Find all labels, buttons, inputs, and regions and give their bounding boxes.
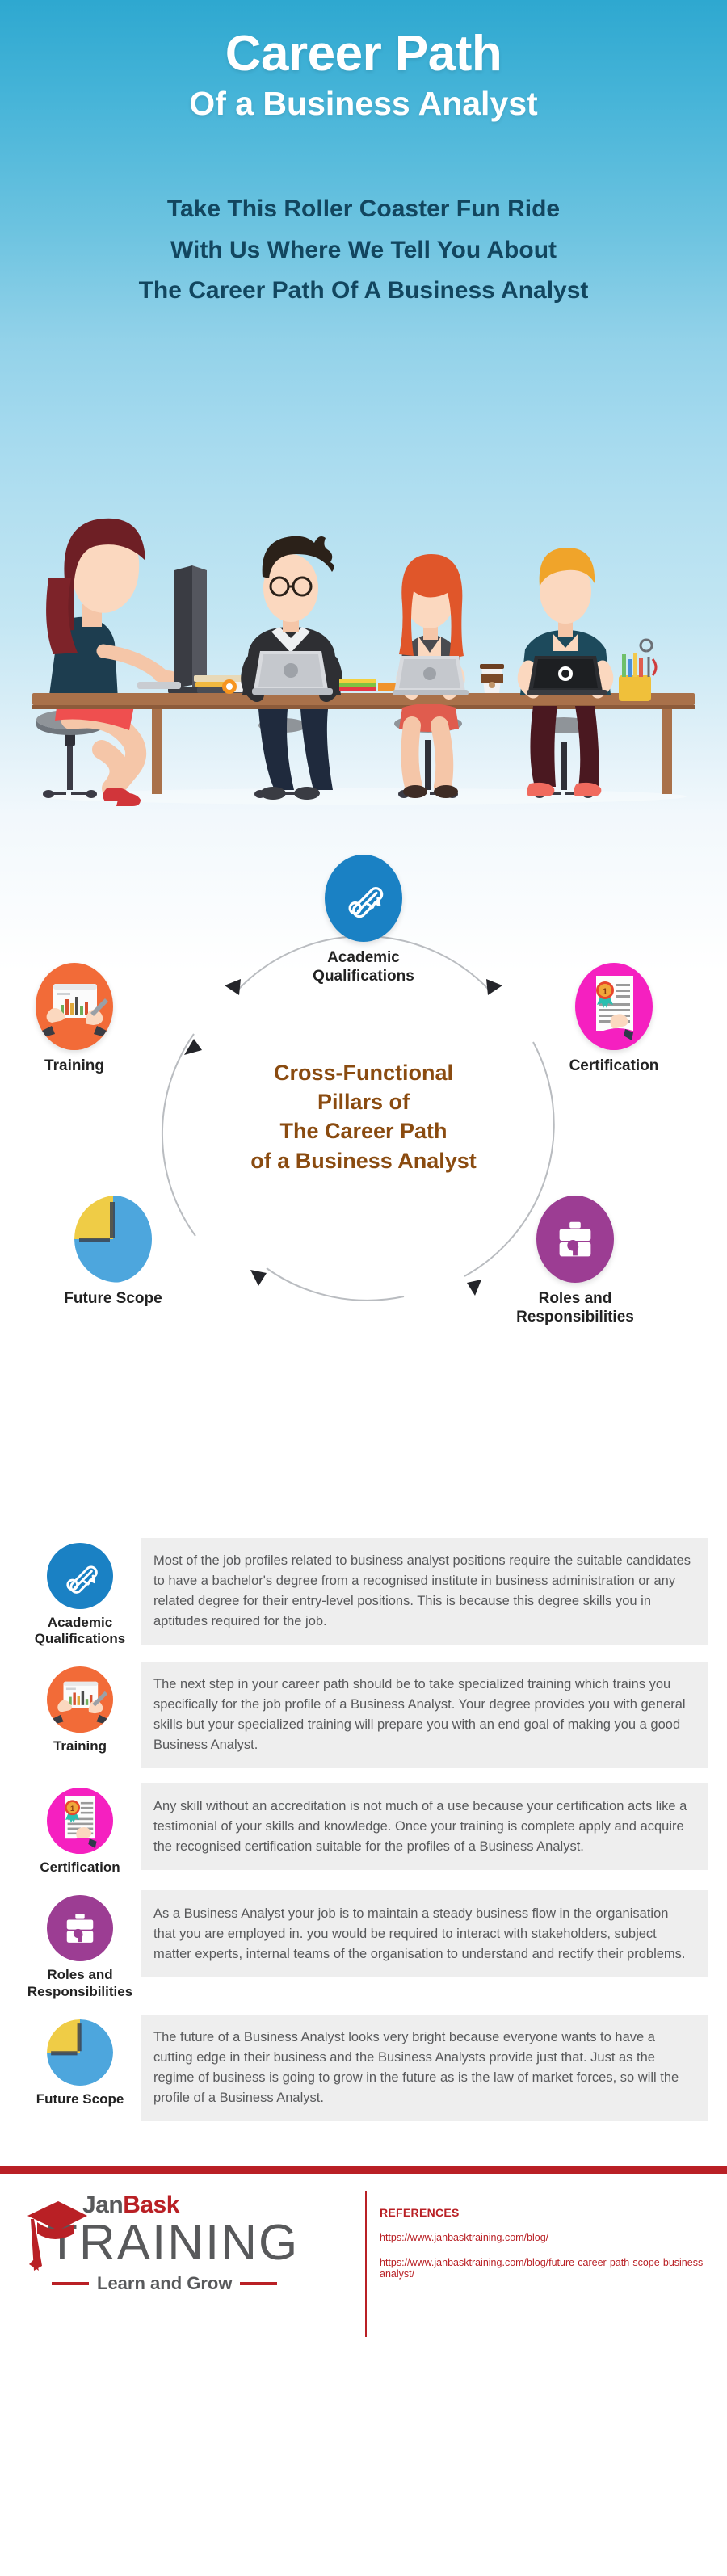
detail-row-label-line-1: Future Scope	[19, 2091, 141, 2107]
reference-link-1[interactable]: https://www.janbasktraining.com/blog/	[380, 2232, 727, 2243]
reference-link-2[interactable]: https://www.janbasktraining.com/blog/fut…	[380, 2257, 727, 2280]
wheel-node-roles-responsibilities[interactable]: Roles and Responsibilities	[494, 1196, 656, 1326]
detail-icon-column: Roles and Responsibilities	[19, 1890, 141, 1999]
page-title: Career Path	[0, 0, 727, 80]
svg-text:1: 1	[603, 987, 607, 997]
detail-icon-column: Future Scope	[19, 2015, 141, 2107]
wheel-node-training[interactable]: Training	[0, 963, 155, 1075]
detail-row-label: Future Scope	[19, 2091, 141, 2107]
arrow-head-right-top	[486, 979, 502, 995]
references-title: REFERENCES	[380, 2206, 727, 2219]
detail-row-label: Certification	[19, 1860, 141, 1876]
detail-row-text: The future of a Business Analyst looks v…	[141, 2015, 708, 2121]
certificate-document-icon: 1	[47, 1788, 113, 1854]
wheel-node-academic-qualifications[interactable]: Academic Qualifications	[283, 855, 444, 985]
arrow-head-right-bottom	[467, 1280, 481, 1296]
detail-row-label-line-1: Roles and	[19, 1967, 141, 1983]
detail-row-label: Roles and Responsibilities	[19, 1967, 141, 1999]
detail-row-text: Most of the job profiles related to busi…	[141, 1538, 708, 1645]
certificate-document-icon: 1	[575, 963, 653, 1050]
wheel-center-line-2: Pillars of	[194, 1087, 533, 1116]
detail-row-academic-qualifications: Academic Qualifications Most of the job …	[0, 1538, 727, 1662]
logo-training-text: TRAINING	[47, 2214, 355, 2271]
toolbox-wrench-icon	[536, 1196, 614, 1283]
detail-icon-column: Academic Qualifications	[19, 1538, 141, 1647]
janbask-logo[interactable]: JanBask TRAINING Learn and Grow	[0, 2191, 355, 2294]
tablet-chart-hands-icon	[36, 963, 113, 1050]
wheel-center-line-1: Cross-Functional	[194, 1058, 533, 1087]
wheel-node-label: Training	[0, 1057, 155, 1075]
detail-row-future-scope: Future Scope The future of a Business An…	[0, 2015, 727, 2136]
pie-chart-icon	[47, 2019, 113, 2086]
footer-section: JanBask TRAINING Learn and Grow REFERENC…	[0, 2166, 727, 2337]
wheel-node-label-line-1: Roles and	[494, 1289, 656, 1308]
hero-section: Career Path Of a Business Analyst Take T…	[0, 0, 727, 816]
diploma-scroll-icon	[325, 855, 402, 942]
tablet-chart-hands-icon	[47, 1666, 113, 1733]
graduation-cap-icon	[23, 2195, 92, 2272]
references-column: REFERENCES https://www.janbasktraining.c…	[365, 2191, 727, 2337]
detail-row-text: The next step in your career path should…	[141, 1662, 708, 1768]
detail-row-label: Training	[19, 1738, 141, 1754]
logo-tagline-text: Learn and Grow	[89, 2273, 240, 2294]
wheel-center-line-4: of a Business Analyst	[194, 1146, 533, 1175]
hero-lead-line-1: Take This Roller Coaster Fun Ride	[0, 189, 727, 230]
arrow-head-bottom	[250, 1270, 267, 1286]
wheel-node-label: Certification	[533, 1057, 695, 1075]
detail-row-label-line-1: Academic	[19, 1615, 141, 1631]
pie-chart-icon	[74, 1196, 152, 1283]
detail-row-label-line-2: Responsibilities	[19, 1984, 141, 2000]
detail-icon-column: Training	[19, 1662, 141, 1754]
detail-row-roles-responsibilities: Roles and Responsibilities As a Business…	[0, 1890, 727, 2014]
infographic-page: Career Path Of a Business Analyst Take T…	[0, 0, 727, 2576]
office-team-illustration	[16, 483, 711, 806]
hero-lead-line-2: With Us Where We Tell You About	[0, 230, 727, 271]
wheel-node-label: Future Scope	[32, 1289, 194, 1308]
detail-icon-column: 1 Certification	[19, 1783, 141, 1876]
logo-tagline-wrap: Learn and Grow	[52, 2273, 355, 2294]
detail-row-label: Academic Qualifications	[19, 1615, 141, 1647]
detail-row-label-line-1: Certification	[19, 1860, 141, 1876]
arrow-head-left	[184, 1039, 202, 1055]
detail-row-label-line-1: Training	[19, 1738, 141, 1754]
detail-row-text: Any skill without an accreditation is no…	[141, 1783, 708, 1870]
wheel-node-certification[interactable]: 1 Certification	[533, 963, 695, 1075]
diploma-scroll-icon	[47, 1543, 113, 1609]
detail-row-training: Training The next step in your career pa…	[0, 1662, 727, 1783]
wheel-node-future-scope[interactable]: Future Scope	[32, 1196, 194, 1308]
detail-row-text: As a Business Analyst your job is to mai…	[141, 1890, 708, 1977]
pillars-wheel-diagram: Cross-Functional Pillars of The Career P…	[0, 816, 727, 1527]
detail-rows-section: Academic Qualifications Most of the job …	[0, 1527, 727, 2152]
footer-divider-rule	[0, 2166, 727, 2174]
footer-body: JanBask TRAINING Learn and Grow REFERENC…	[0, 2174, 727, 2337]
wheel-node-label-line-2: Responsibilities	[494, 1308, 656, 1326]
page-subtitle: Of a Business Analyst	[0, 85, 727, 123]
detail-row-certification: 1 Certification Any skill without an acc…	[0, 1783, 727, 1890]
svg-text:1: 1	[70, 1804, 74, 1813]
wheel-node-label: Academic Qualifications	[283, 948, 444, 985]
toolbox-wrench-icon	[47, 1895, 113, 1961]
tagline-dash-right	[240, 2282, 277, 2285]
wheel-node-label: Roles and Responsibilities	[494, 1289, 656, 1326]
tagline-dash-left	[52, 2282, 89, 2285]
detail-row-label-line-2: Qualifications	[19, 1631, 141, 1647]
wheel-center-title: Cross-Functional Pillars of The Career P…	[194, 1058, 533, 1175]
hero-lead-text: Take This Roller Coaster Fun Ride With U…	[0, 189, 727, 312]
arrow-head-left-top	[225, 979, 241, 995]
wheel-center-line-3: The Career Path	[194, 1116, 533, 1145]
hero-lead-line-3: The Career Path Of A Business Analyst	[0, 271, 727, 312]
